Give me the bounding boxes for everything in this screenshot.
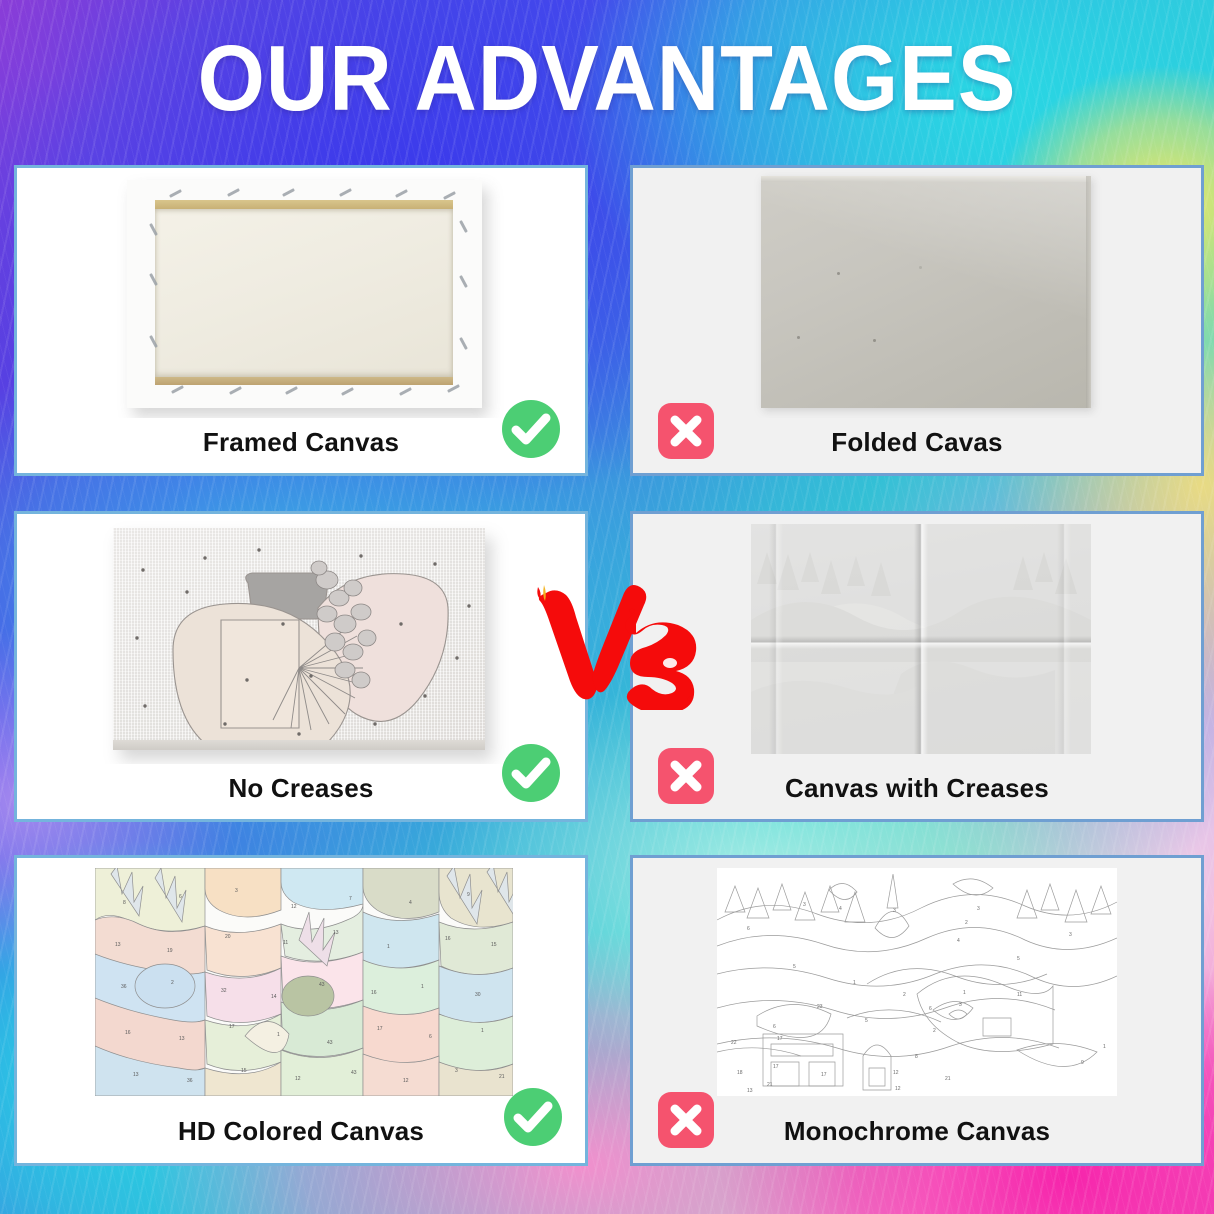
monochrome-canvas-photo: 634 323 345 112 635 2236 171717 211813 1…: [633, 858, 1201, 1106]
cross-badge-icon: [658, 1092, 714, 1148]
svg-text:6: 6: [929, 1006, 932, 1012]
svg-text:3: 3: [235, 888, 238, 894]
svg-text:19: 19: [167, 948, 173, 954]
svg-text:1: 1: [277, 1032, 280, 1038]
svg-text:17: 17: [773, 1064, 779, 1070]
svg-text:11: 11: [283, 940, 288, 946]
check-badge-icon: [502, 400, 560, 458]
card-hd-colored-canvas[interactable]: 863 1274 91319 201113 11615 36232 144316…: [14, 855, 588, 1166]
svg-text:3: 3: [455, 1068, 458, 1074]
card-label-no-creases: No Creases: [17, 758, 585, 819]
svg-text:5: 5: [793, 964, 796, 970]
card-label-framed-canvas: Framed Canvas: [17, 412, 585, 473]
svg-text:3: 3: [893, 908, 896, 914]
svg-text:13: 13: [747, 1088, 753, 1094]
svg-text:7: 7: [349, 896, 352, 902]
svg-text:12: 12: [895, 1086, 901, 1092]
svg-text:1: 1: [963, 990, 966, 996]
svg-text:13: 13: [133, 1072, 139, 1078]
svg-text:12: 12: [403, 1078, 409, 1084]
svg-text:17: 17: [777, 1036, 783, 1042]
svg-text:11: 11: [1017, 992, 1022, 998]
svg-text:43: 43: [319, 982, 325, 988]
hd-colored-canvas-photo: 863 1274 91319 201113 11615 36232 144316…: [17, 858, 585, 1106]
svg-text:32: 32: [221, 988, 227, 994]
svg-text:2: 2: [903, 992, 906, 998]
card-label-monochrome-canvas: Monochrome Canvas: [633, 1100, 1201, 1163]
svg-text:9: 9: [1081, 1060, 1084, 1066]
svg-text:13: 13: [115, 942, 121, 948]
svg-text:6: 6: [429, 1034, 432, 1040]
svg-text:12: 12: [291, 904, 297, 910]
svg-text:16: 16: [371, 990, 377, 996]
svg-text:21: 21: [499, 1074, 505, 1080]
svg-text:17: 17: [229, 1024, 235, 1030]
svg-text:13: 13: [179, 1036, 185, 1042]
svg-text:1: 1: [1103, 1044, 1106, 1050]
svg-text:15: 15: [491, 942, 497, 948]
svg-text:2: 2: [965, 920, 968, 926]
check-badge-icon: [504, 1088, 562, 1146]
cross-badge-icon: [658, 748, 714, 804]
svg-text:22: 22: [731, 1040, 737, 1046]
svg-text:1: 1: [853, 980, 856, 986]
svg-text:5: 5: [1017, 956, 1020, 962]
svg-text:1: 1: [387, 944, 390, 950]
svg-text:3: 3: [977, 906, 980, 912]
check-badge-icon: [502, 744, 560, 802]
cross-badge-icon: [658, 403, 714, 459]
svg-text:4: 4: [957, 938, 960, 944]
svg-text:43: 43: [351, 1070, 357, 1076]
svg-text:6: 6: [747, 926, 750, 932]
svg-text:12: 12: [893, 1070, 899, 1076]
svg-text:6: 6: [773, 1024, 776, 1030]
card-folded-canvas[interactable]: Folded Cavas: [630, 165, 1204, 476]
svg-text:18: 18: [737, 1070, 743, 1076]
framed-canvas-photo: [17, 168, 585, 418]
svg-text:12: 12: [295, 1076, 301, 1082]
svg-text:8: 8: [123, 900, 126, 906]
svg-text:9: 9: [467, 892, 470, 898]
versus-graphic: [530, 585, 700, 710]
svg-text:21: 21: [945, 1076, 951, 1082]
svg-text:4: 4: [839, 906, 842, 912]
card-label-canvas-with-creases: Canvas with Creases: [633, 758, 1201, 819]
svg-text:14: 14: [271, 994, 277, 1000]
svg-text:17: 17: [821, 1072, 827, 1078]
svg-text:6: 6: [179, 894, 182, 900]
svg-text:16: 16: [445, 936, 451, 942]
card-label-folded-canvas: Folded Cavas: [633, 412, 1201, 473]
svg-text:5: 5: [865, 1018, 868, 1024]
svg-text:3: 3: [959, 1002, 962, 1008]
svg-text:2: 2: [171, 980, 174, 986]
svg-text:2: 2: [933, 1028, 936, 1034]
svg-text:8: 8: [915, 1054, 918, 1060]
card-label-hd-colored-canvas: HD Colored Canvas: [17, 1100, 585, 1163]
card-monochrome-canvas[interactable]: 634 323 345 112 635 2236 171717 211813 1…: [630, 855, 1204, 1166]
svg-text:3: 3: [1069, 932, 1072, 938]
svg-text:13: 13: [333, 930, 339, 936]
svg-text:21: 21: [767, 1082, 773, 1088]
comparison-grid: Framed Canvas Folded Cavas: [0, 0, 1214, 1214]
svg-text:36: 36: [187, 1078, 193, 1084]
svg-text:43: 43: [327, 1040, 333, 1046]
svg-text:30: 30: [475, 992, 481, 998]
folded-canvas-photo: [633, 168, 1201, 418]
svg-text:23: 23: [817, 1004, 823, 1010]
svg-text:3: 3: [803, 902, 806, 908]
svg-text:15: 15: [241, 1068, 247, 1074]
svg-text:4: 4: [409, 900, 412, 906]
svg-text:1: 1: [421, 984, 424, 990]
svg-text:17: 17: [377, 1026, 383, 1032]
card-canvas-with-creases[interactable]: Canvas with Creases: [630, 511, 1204, 822]
svg-text:36: 36: [121, 984, 127, 990]
no-creases-photo: [17, 514, 585, 764]
svg-text:20: 20: [225, 934, 231, 940]
svg-text:1: 1: [481, 1028, 484, 1034]
creased-canvas-photo: [633, 514, 1201, 764]
svg-text:16: 16: [125, 1030, 131, 1036]
